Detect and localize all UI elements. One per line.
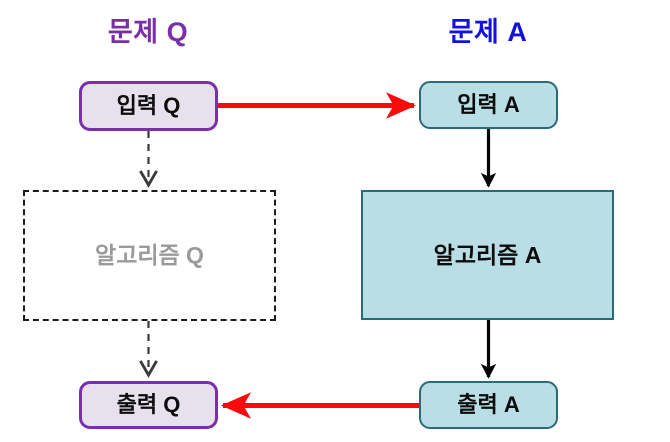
node-output-a[interactable]: 출력 A (419, 381, 558, 429)
node-input-q[interactable]: 입력 Q (79, 81, 218, 131)
node-algorithm-q[interactable]: 알고리즘 Q (23, 190, 276, 321)
node-output-q[interactable]: 출력 Q (79, 381, 218, 429)
node-algorithm-a[interactable]: 알고리즘 A (361, 190, 614, 320)
node-input-a[interactable]: 입력 A (419, 81, 558, 129)
diagram-canvas: 문제 Q 문제 A 입력 Q 알고리즘 Q 출력 Q (0, 0, 670, 442)
column-title-a: 문제 A (388, 19, 588, 46)
column-title-q: 문제 Q (48, 19, 248, 46)
